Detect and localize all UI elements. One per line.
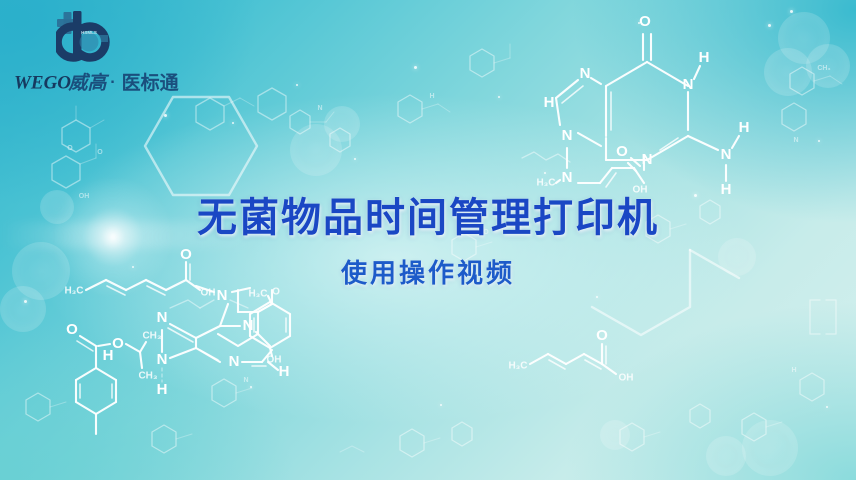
bokeh-circle: [742, 420, 798, 476]
sparkle-dot: [250, 386, 252, 388]
wordmark-latin: WEGO: [14, 72, 71, 93]
sparkle-dot: [498, 96, 500, 98]
sparkle-dot: [24, 300, 27, 303]
wordmark-product: 医标通: [122, 72, 180, 94]
sparkle-dot: [440, 404, 442, 406]
wordmark-cn: 威高: [67, 72, 109, 94]
bokeh-circle: [764, 48, 812, 96]
bokeh-circle: [706, 436, 746, 476]
bokeh-circle: [600, 420, 630, 450]
wordmark-separator: ·: [110, 74, 115, 92]
sparkle-dot: [596, 296, 598, 298]
sparkle-dot: [790, 10, 793, 13]
page-title: 无菌物品时间管理打印机: [0, 196, 856, 241]
brand-logo[interactable]: HSMLS WEGO 威高 · 医标通: [14, 10, 204, 100]
sparkle-dot: [414, 66, 417, 69]
wego-b-cross-logo-icon: HSMLS: [56, 10, 110, 62]
brand-wordmark: WEGO 威高 · 医标通: [14, 69, 204, 95]
sparkle-dot: [354, 158, 356, 160]
sparkle-dot: [544, 172, 546, 174]
page-subtitle: 使用操作视频: [0, 253, 856, 290]
sparkle-dot: [232, 122, 234, 124]
bokeh-circle: [324, 106, 360, 142]
sparkle-dot: [296, 84, 298, 86]
sparkle-dot: [818, 140, 820, 142]
sparkle-dot: [638, 22, 640, 24]
logo-inner-text: HSMLS: [81, 30, 97, 35]
title-block: 无菌物品时间管理打印机 使用操作视频: [0, 196, 856, 290]
sparkle-dot: [768, 24, 771, 27]
bokeh-circle: [806, 44, 850, 88]
sparkle-dot: [826, 406, 828, 408]
video-title-slide: .ln { fill:none; stroke:#ffffff; stroke-…: [0, 0, 856, 480]
bokeh-circle: [0, 286, 46, 332]
sparkle-dot: [164, 114, 167, 117]
